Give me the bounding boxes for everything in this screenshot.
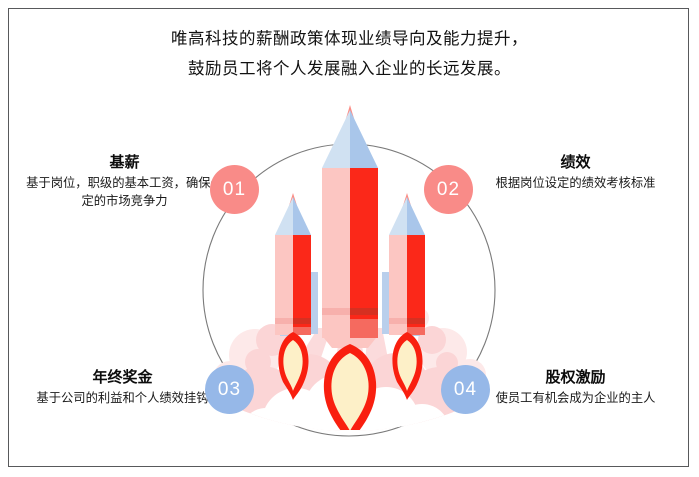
item-description-01: 基于岗位，职级的基本工资，确保一定的市场竞争力 (22, 175, 227, 210)
page-title: 唯高科技的薪酬政策体现业绩导向及能力提升， 鼓励员工将个人发展融入企业的长远发展… (0, 24, 699, 84)
item-heading-01: 基薪 (22, 153, 227, 173)
item-heading-04: 股权激励 (473, 368, 678, 388)
infographic-canvas: 唯高科技的薪酬政策体现业绩导向及能力提升， 鼓励员工将个人发展融入企业的长远发展… (0, 0, 699, 477)
item-block-bottom-left: 年终奖金 基于公司的利益和个人绩效挂钩 (20, 368, 225, 408)
rocket-right (389, 193, 425, 335)
rocket-flames (278, 332, 422, 430)
badge-04[interactable]: 04 (441, 365, 490, 414)
rocket-left (275, 193, 311, 335)
item-description-04: 使员工有机会成为企业的主人 (473, 390, 678, 408)
item-block-top-left: 基薪 基于岗位，职级的基本工资，确保一定的市场竞争力 (22, 153, 227, 210)
badge-03[interactable]: 03 (205, 365, 254, 414)
item-description-03: 基于公司的利益和个人绩效挂钩 (20, 390, 225, 408)
rocket-center (322, 105, 378, 348)
item-block-bottom-right: 股权激励 使员工有机会成为企业的主人 (473, 368, 678, 408)
item-block-top-right: 绩效 根据岗位设定的绩效考核标准 (473, 153, 678, 193)
badge-01[interactable]: 01 (210, 165, 259, 214)
item-description-02: 根据岗位设定的绩效考核标准 (473, 175, 678, 193)
badge-02[interactable]: 02 (424, 165, 473, 214)
rocket-illustration (232, 100, 468, 430)
item-heading-02: 绩效 (473, 153, 678, 173)
item-heading-03: 年终奖金 (20, 368, 225, 388)
